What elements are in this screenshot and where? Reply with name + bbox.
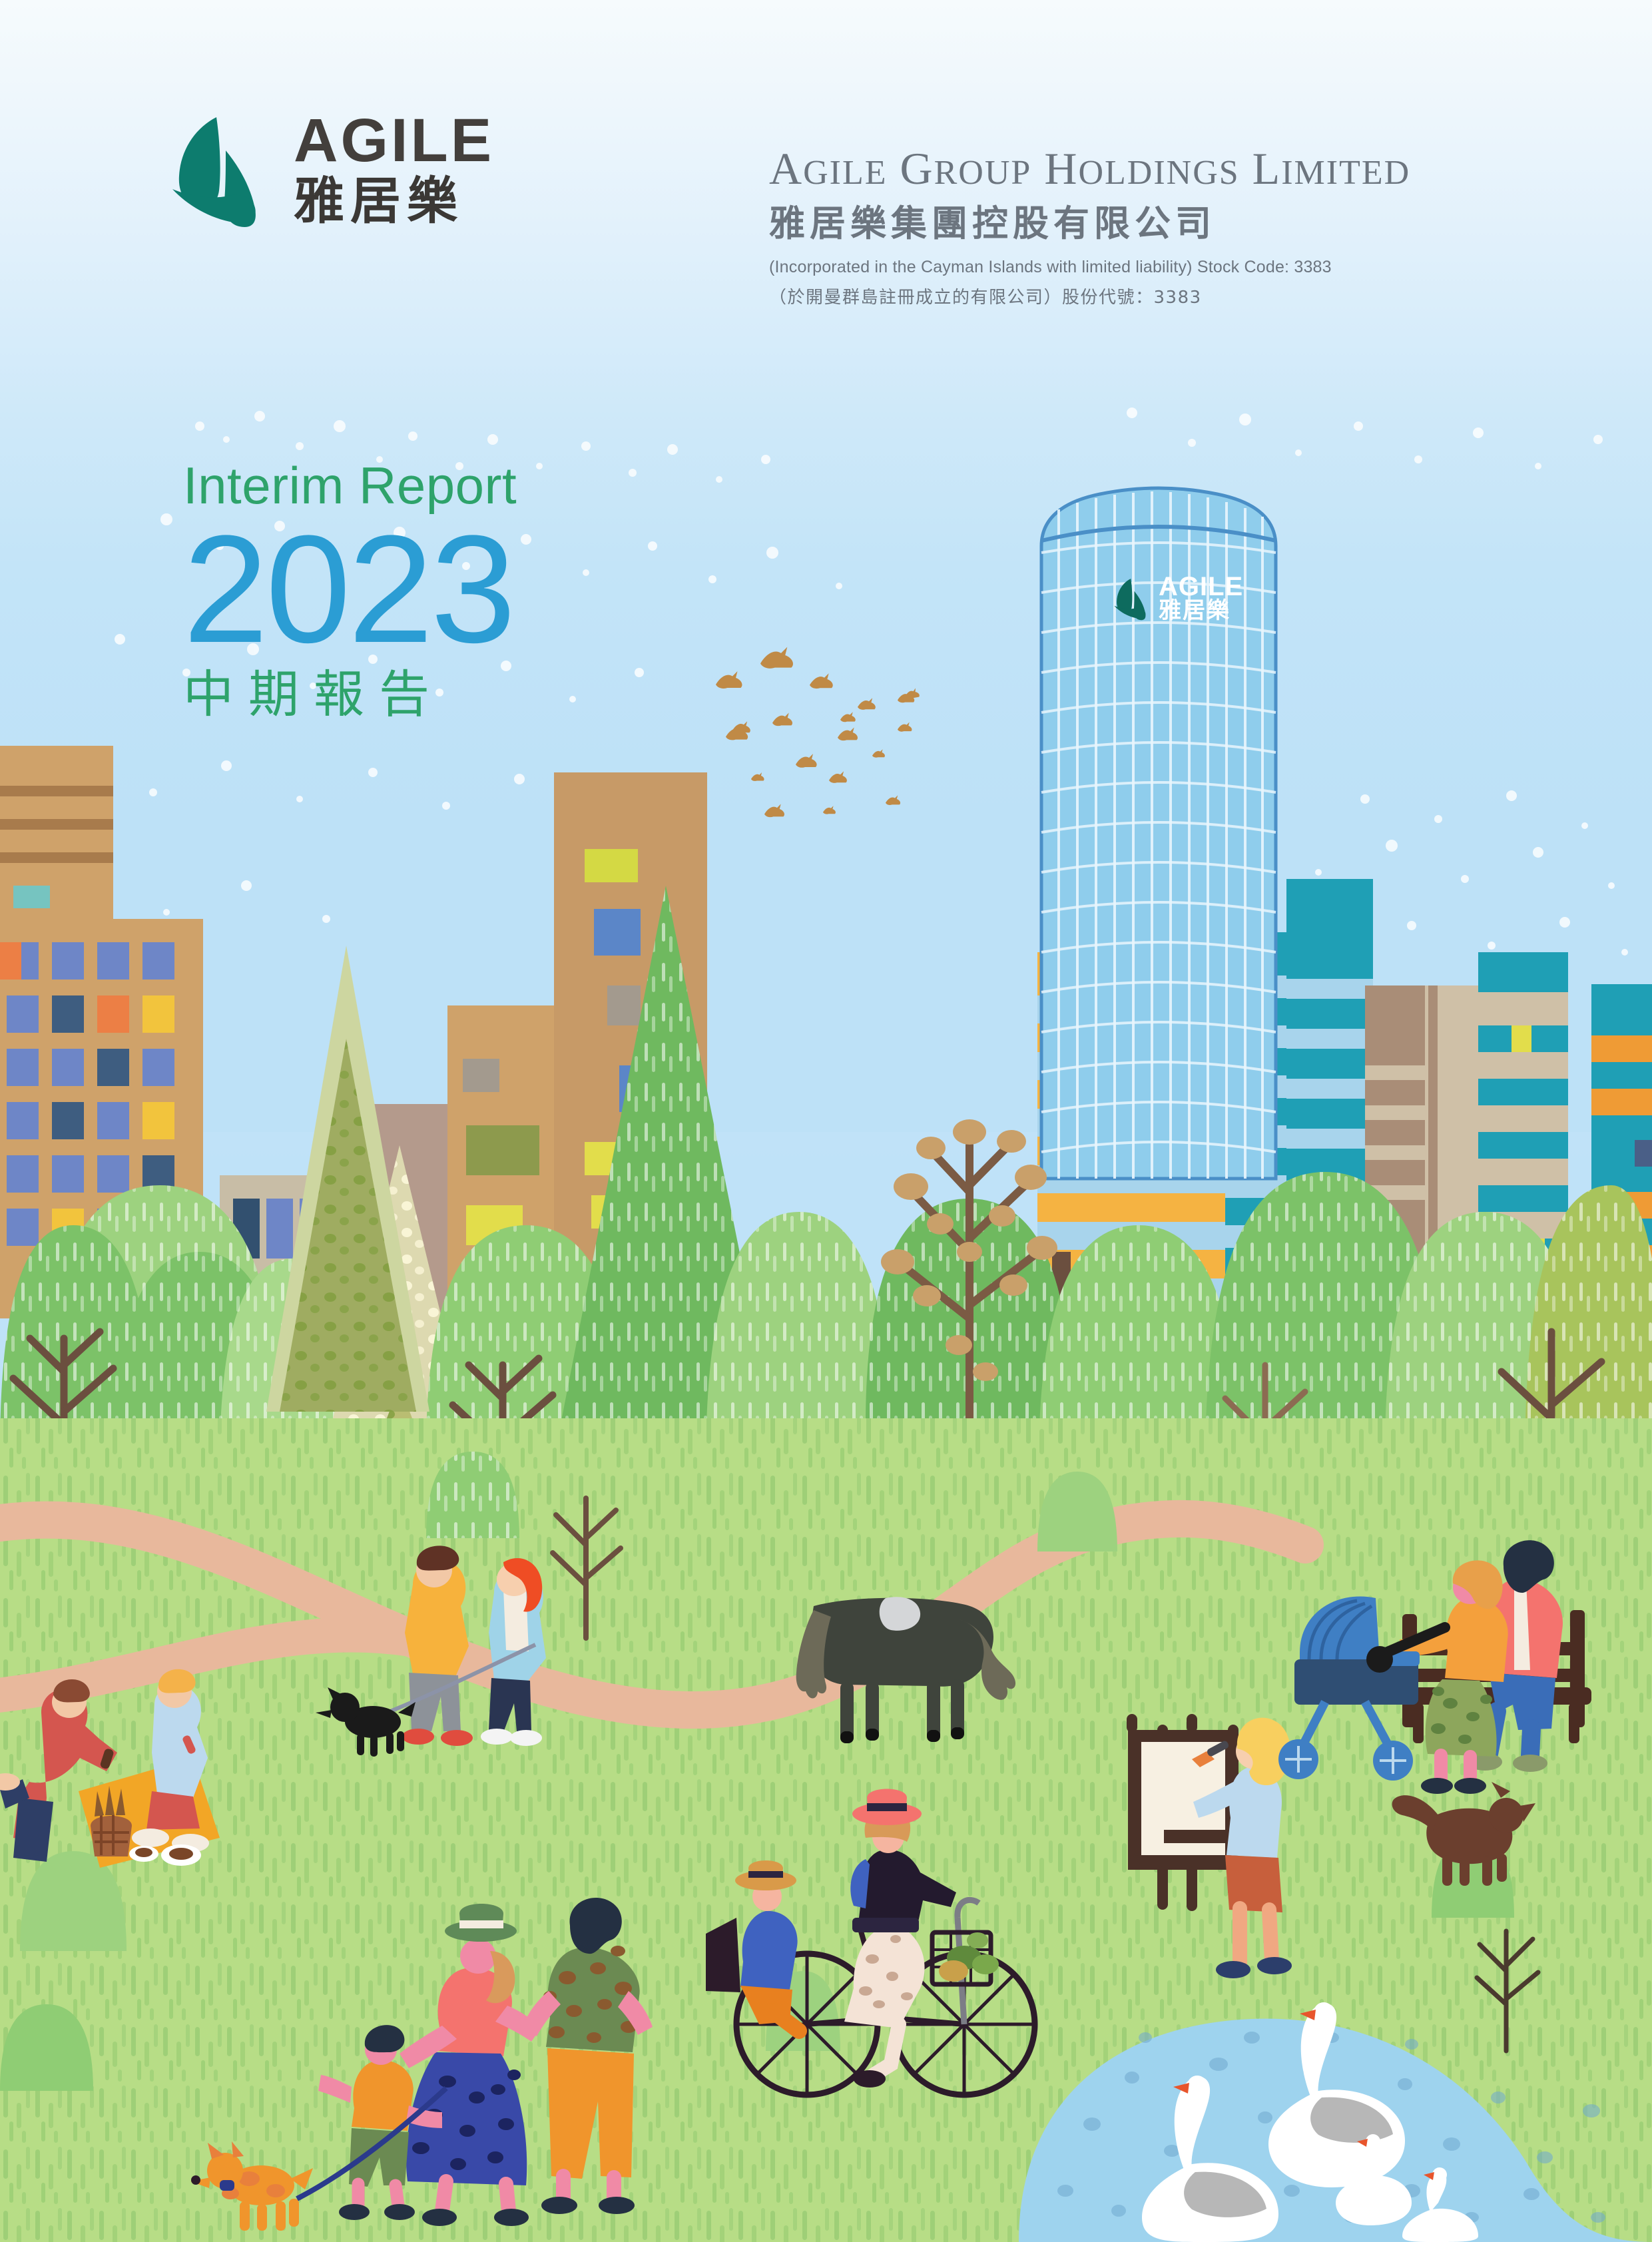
- report-cover-page: AGILE 雅居樂 AGILE GROUP HOLDINGS LIMITED 雅…: [0, 0, 1652, 2242]
- report-year: 2023: [183, 517, 517, 663]
- company-name-cn: 雅居樂集團控股有限公司: [769, 203, 1410, 244]
- tower-wordmark-cn: 雅居樂: [1159, 599, 1243, 623]
- cover-header: AGILE 雅居樂 AGILE GROUP HOLDINGS LIMITED 雅…: [0, 0, 1652, 346]
- agile-trefoil-logo-icon: [164, 112, 271, 228]
- incorporation-note-en: (Incorporated in the Cayman Islands with…: [769, 258, 1410, 277]
- company-name-en: AGILE GROUP HOLDINGS LIMITED: [769, 143, 1410, 194]
- report-title-block: Interim Report 2023 中期報告: [183, 459, 517, 722]
- incorporation-note-cn: （於開曼群島註冊成立的有限公司）股份代號：3383: [769, 284, 1410, 308]
- agile-trefoil-logo-icon: [1111, 577, 1152, 621]
- brand-wordmark-cn: 雅居樂: [294, 174, 494, 228]
- brand-wordmark-en: AGILE: [294, 113, 494, 169]
- company-name-block: AGILE GROUP HOLDINGS LIMITED 雅居樂集團控股有限公司…: [769, 143, 1410, 308]
- tower-agile-sign: AGILE 雅居樂: [1111, 574, 1243, 623]
- report-type-cn: 中期報告: [183, 667, 517, 722]
- agile-brand-lockup: AGILE 雅居樂: [164, 112, 494, 228]
- tower-wordmark-en: AGILE: [1159, 574, 1243, 599]
